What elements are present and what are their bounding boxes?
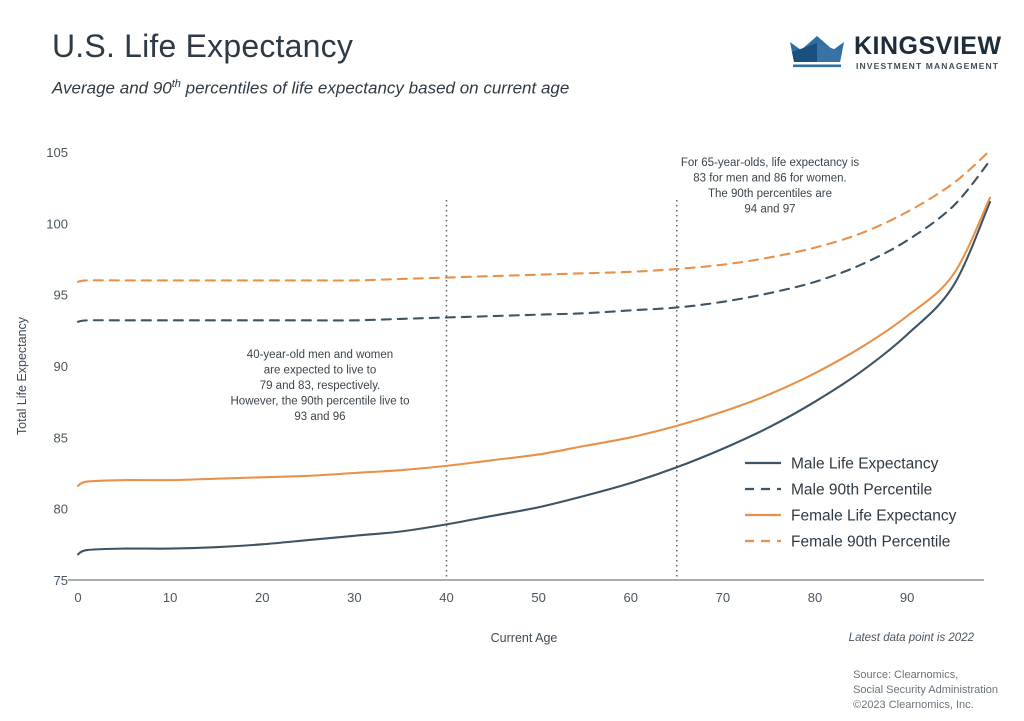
y-tick-label: 105 [46,145,68,160]
legend-item-male-90th-percentile[interactable]: Male 90th Percentile [745,482,932,499]
page-title: U.S. Life Expectancy [52,28,353,65]
legend-label: Male 90th Percentile [791,482,932,499]
x-tick-label: 60 [623,590,637,605]
source-line-1: Source: Clearnomics, [853,668,998,683]
chart-legend[interactable]: Male Life ExpectancyMale 90th Percentile… [745,456,957,551]
crown-icon [788,34,846,70]
logo-wordmark: KINGSVIEW [854,34,1002,59]
legend-label: Female Life Expectancy [791,508,957,525]
annotation-line: 79 and 83, respectively. [260,380,381,392]
source-line-2: Social Security Administration [853,683,998,698]
annotation-line: 93 and 96 [294,411,345,423]
annotation-age-40: 40-year-old men and womenare expected to… [231,349,410,423]
y-tick-label: 100 [46,216,68,231]
y-tick-label: 80 [54,502,68,517]
legend-item-female-life-expectancy[interactable]: Female Life Expectancy [745,508,957,525]
series-line-male-90th-percentile [78,161,990,322]
chart-annotations: 40-year-old men and womenare expected to… [231,157,860,423]
annotation-line: The 90th percentiles are [708,188,832,200]
x-tick-label: 90 [900,590,914,605]
x-tick-label: 0 [74,590,81,605]
x-tick-label: 40 [439,590,453,605]
legend-label: Male Life Expectancy [791,456,939,473]
annotation-line: However, the 90th percentile live to [231,396,410,408]
x-tick-label: 50 [531,590,545,605]
x-tick-label: 80 [808,590,822,605]
annotation-line: 40-year-old men and women [247,349,393,361]
series-line-female-life-expectancy [78,198,990,486]
annotation-line: 83 for men and 86 for women. [693,173,846,185]
y-tick-label: 85 [54,430,68,445]
y-tick-label: 95 [54,288,68,303]
x-tick-label: 70 [716,590,730,605]
logo-tagline: INVESTMENT MANAGEMENT [856,61,999,71]
chart-container: 7580859095100105 0102030405060708090 40-… [0,118,1024,648]
subtitle-pre: Average and 90 [52,79,172,98]
source-credit: Source: Clearnomics, Social Security Adm… [853,668,998,713]
life-expectancy-line-chart: 7580859095100105 0102030405060708090 40-… [0,118,1024,648]
y-axis-tick-labels: 7580859095100105 [46,145,68,588]
x-axis-title: Current Age [491,631,558,645]
subtitle-superscript: th [172,78,181,90]
latest-data-note: Latest data point is 2022 [849,632,974,644]
x-tick-label: 10 [163,590,177,605]
annotation-line: are expected to live to [264,365,377,377]
reference-lines [446,200,676,580]
legend-label: Female 90th Percentile [791,534,950,551]
annotation-line: 94 and 97 [744,204,795,216]
legend-item-female-90th-percentile[interactable]: Female 90th Percentile [745,534,950,551]
source-line-3: ©2023 Clearnomics, Inc. [853,698,998,713]
annotation-line: For 65-year-olds, life expectancy is [681,157,860,169]
kingsview-logo: KINGSVIEW INVESTMENT MANAGEMENT [788,32,978,78]
page-subtitle: Average and 90th percentiles of life exp… [52,78,569,99]
x-axis-tick-labels: 0102030405060708090 [74,590,914,605]
subtitle-post: percentiles of life expectancy based on … [181,79,569,98]
y-tick-label: 75 [54,573,68,588]
x-tick-label: 20 [255,590,269,605]
legend-item-male-life-expectancy[interactable]: Male Life Expectancy [745,456,939,473]
x-tick-label: 30 [347,590,361,605]
series-line-male-life-expectancy [78,202,990,554]
series-line-female-90th-percentile [78,151,990,282]
y-tick-label: 90 [54,359,68,374]
y-axis-title: Total Life Expectancy [15,316,29,435]
annotation-age-65: For 65-year-olds, life expectancy is83 f… [681,157,860,216]
page-header: U.S. Life Expectancy Average and 90th pe… [0,0,1024,120]
